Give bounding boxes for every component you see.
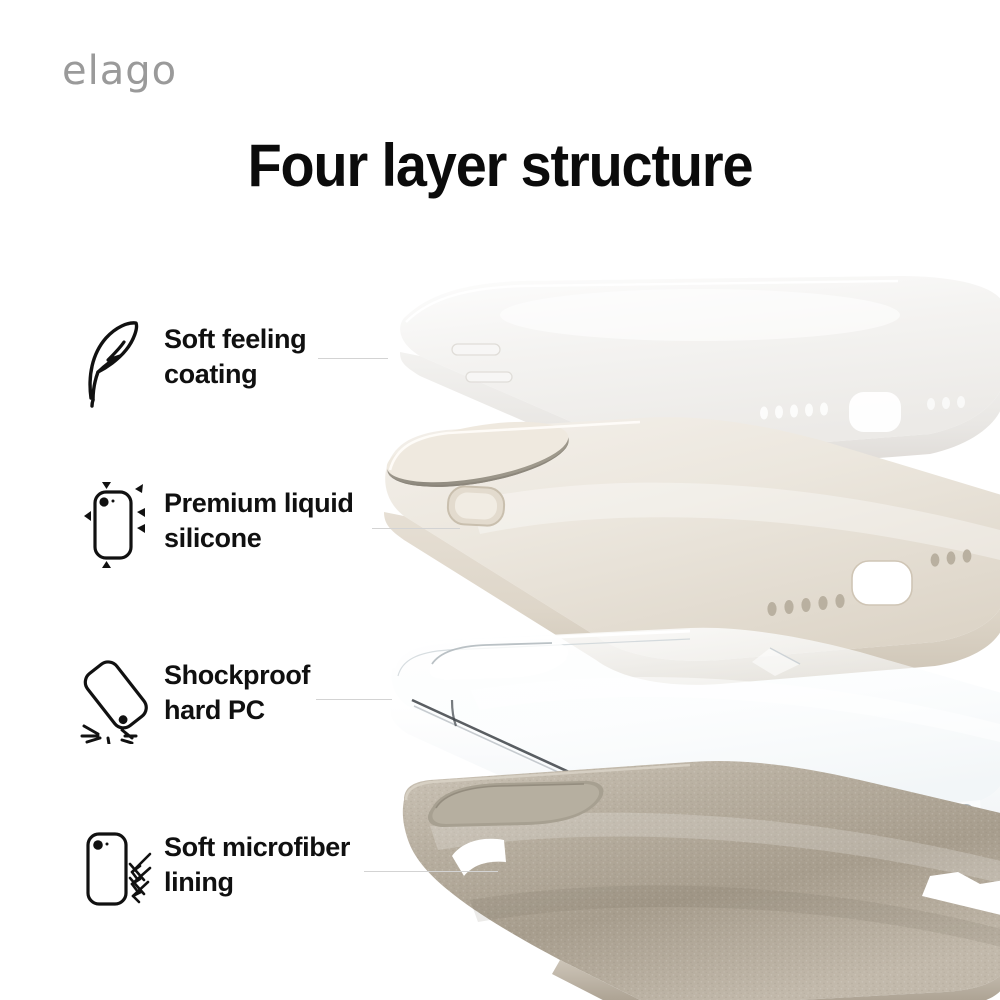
silicone-charging-port xyxy=(852,561,912,605)
feature-label: Soft feeling coating xyxy=(164,322,424,392)
product-infographic: elago Four layer structure xyxy=(0,0,1000,1000)
feather-icon xyxy=(78,316,154,408)
phone-scratch-deflect-icon xyxy=(78,824,154,916)
layer-soft-microfiber-lining xyxy=(403,761,1000,1000)
feature-label: Premium liquid silicone xyxy=(164,486,424,556)
coating-charging-port xyxy=(849,392,901,432)
phone-compression-icon xyxy=(78,480,154,572)
feature-label: Soft microfiber lining xyxy=(164,830,424,900)
phone-drop-impact-icon xyxy=(78,652,154,744)
feature-label: Shockproof hard PC xyxy=(164,658,424,728)
silicone-button-cutout xyxy=(447,486,505,527)
